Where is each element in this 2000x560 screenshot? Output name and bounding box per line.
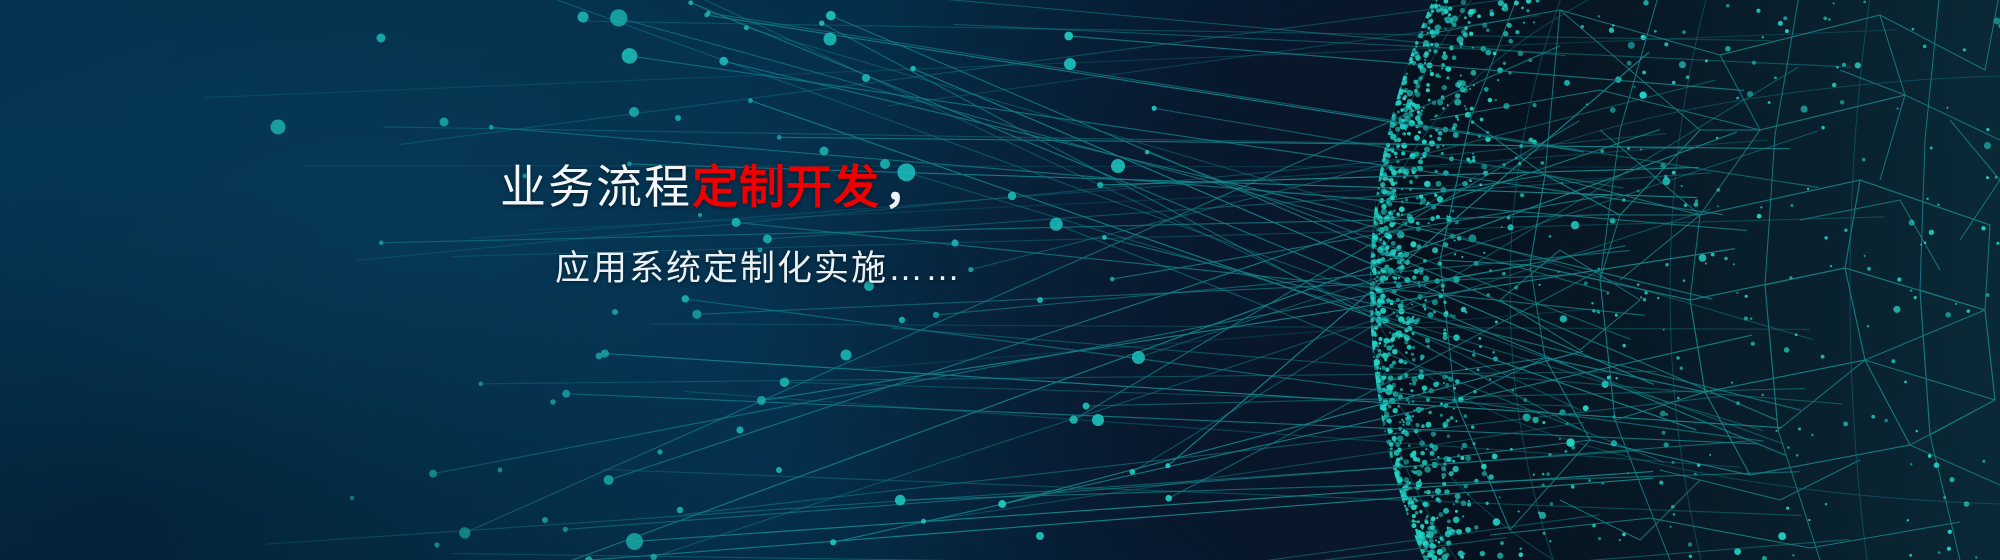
ambient-dots bbox=[271, 12, 1126, 548]
globe-network-graphic bbox=[0, 0, 2000, 560]
hero-banner: 业务流程定制开发， 应用系统定制化实施…… bbox=[0, 0, 2000, 560]
